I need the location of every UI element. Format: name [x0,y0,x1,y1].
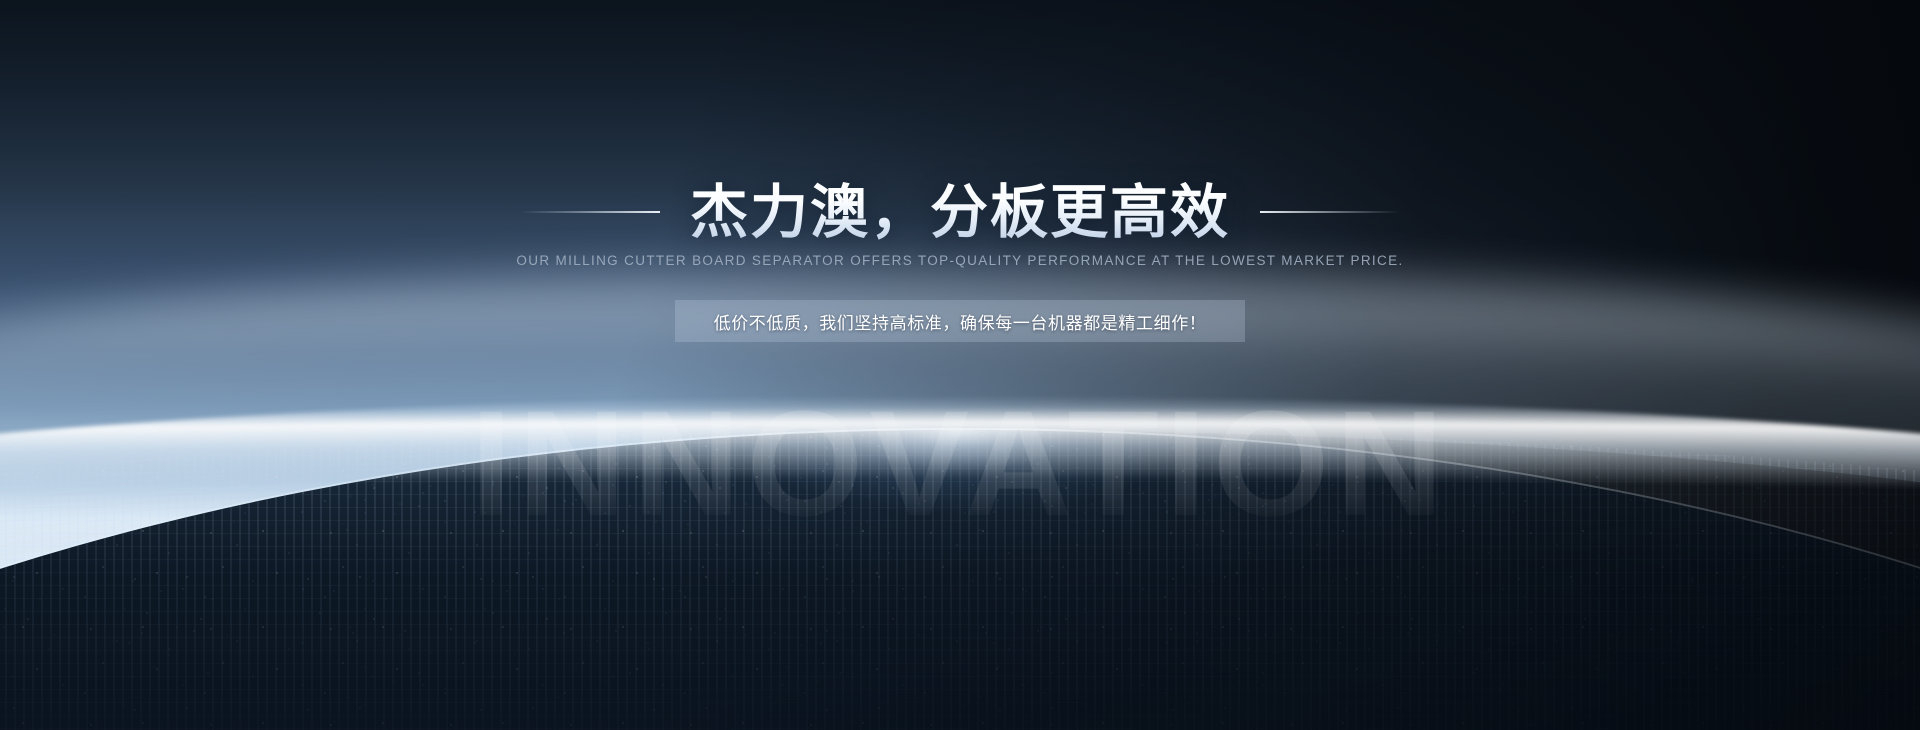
tagline-bar: 低价不低质，我们坚持高标准，确保每一台机器都是精工细作！ [675,300,1245,342]
city-lights-layer-2 [0,430,1920,730]
headline-rule-left-icon [520,211,660,213]
page-title: 杰力澳，分板更高效 [690,179,1230,246]
hero-banner: INNOVATION 杰力澳，分板更高效 OUR MILLING CUTTER … [0,0,1920,730]
earth-shadow-vignette [0,430,1920,730]
tagline-bar-wrapper: 低价不低质，我们坚持高标准，确保每一台机器都是精工细作！ [0,300,1920,342]
city-lights-layer-1 [0,430,1920,730]
headline-rule-right-icon [1260,211,1400,213]
earth-horizon-graphic [0,430,1920,730]
city-lights-layer-3 [0,430,1920,730]
city-building-blocks [0,430,1920,730]
earth-surface [0,430,1920,730]
subtitle-text: OUR MILLING CUTTER BOARD SEPARATOR OFFER… [0,253,1920,268]
